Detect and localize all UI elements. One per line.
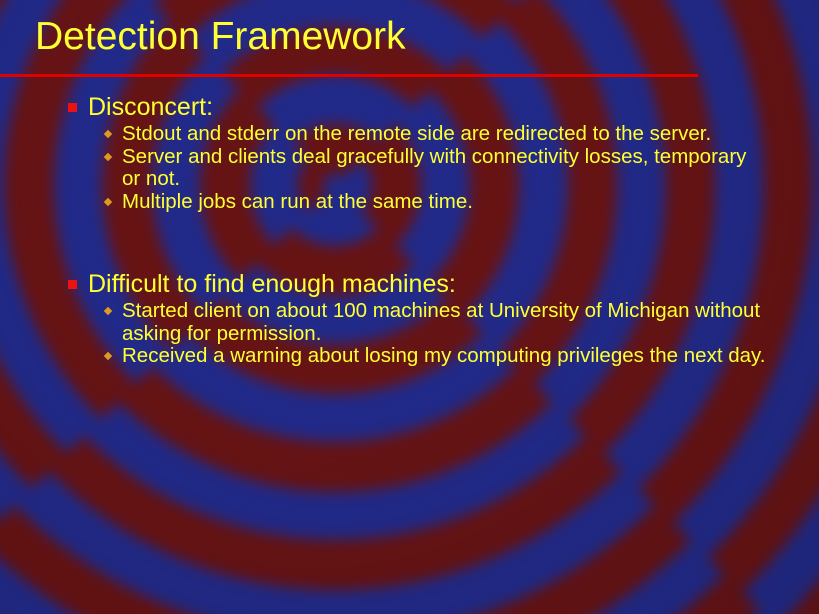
diamond-bullet-icon: [104, 197, 112, 205]
level2-bullet-label: Started client on about 100 machines at …: [122, 299, 760, 345]
diamond-bullet-icon: [104, 130, 112, 138]
level2-bullet-item: Stdout and stderr on the remote side are…: [0, 123, 819, 146]
diamond-bullet-icon: [104, 352, 112, 360]
section-spacer: [0, 213, 819, 269]
square-bullet-icon: [68, 103, 77, 112]
level2-bullet-item: Started client on about 100 machines at …: [0, 300, 819, 345]
level1-bullet-disconcert: Disconcert:: [0, 92, 819, 123]
level2-bullet-item: Server and clients deal gracefully with …: [0, 146, 819, 191]
level1-bullet-label: Disconcert:: [88, 93, 213, 121]
bullet-group-disconcert: Disconcert: Stdout and stderr on the rem…: [0, 92, 819, 213]
level2-bullet-label: Multiple jobs can run at the same time.: [122, 190, 473, 213]
level2-bullet-item: Multiple jobs can run at the same time.: [0, 191, 819, 214]
square-bullet-icon: [68, 280, 77, 289]
level1-bullet-label: Difficult to find enough machines:: [88, 270, 456, 298]
title-divider: [0, 74, 698, 77]
level2-bullet-label: Stdout and stderr on the remote side are…: [122, 122, 711, 145]
slide-body: Disconcert: Stdout and stderr on the rem…: [0, 92, 819, 368]
bullet-group-machines: Difficult to find enough machines: Start…: [0, 269, 819, 368]
level2-bullet-label: Received a warning about losing my compu…: [122, 344, 765, 367]
diamond-bullet-icon: [104, 307, 112, 315]
level2-bullet-item: Received a warning about losing my compu…: [0, 345, 819, 368]
diamond-bullet-icon: [104, 152, 112, 160]
page-title: Detection Framework: [35, 14, 755, 60]
level2-bullet-label: Server and clients deal gracefully with …: [122, 145, 746, 191]
presentation-slide: Detection Framework Disconcert: Stdout a…: [0, 0, 819, 614]
level1-bullet-machines: Difficult to find enough machines:: [0, 269, 819, 300]
